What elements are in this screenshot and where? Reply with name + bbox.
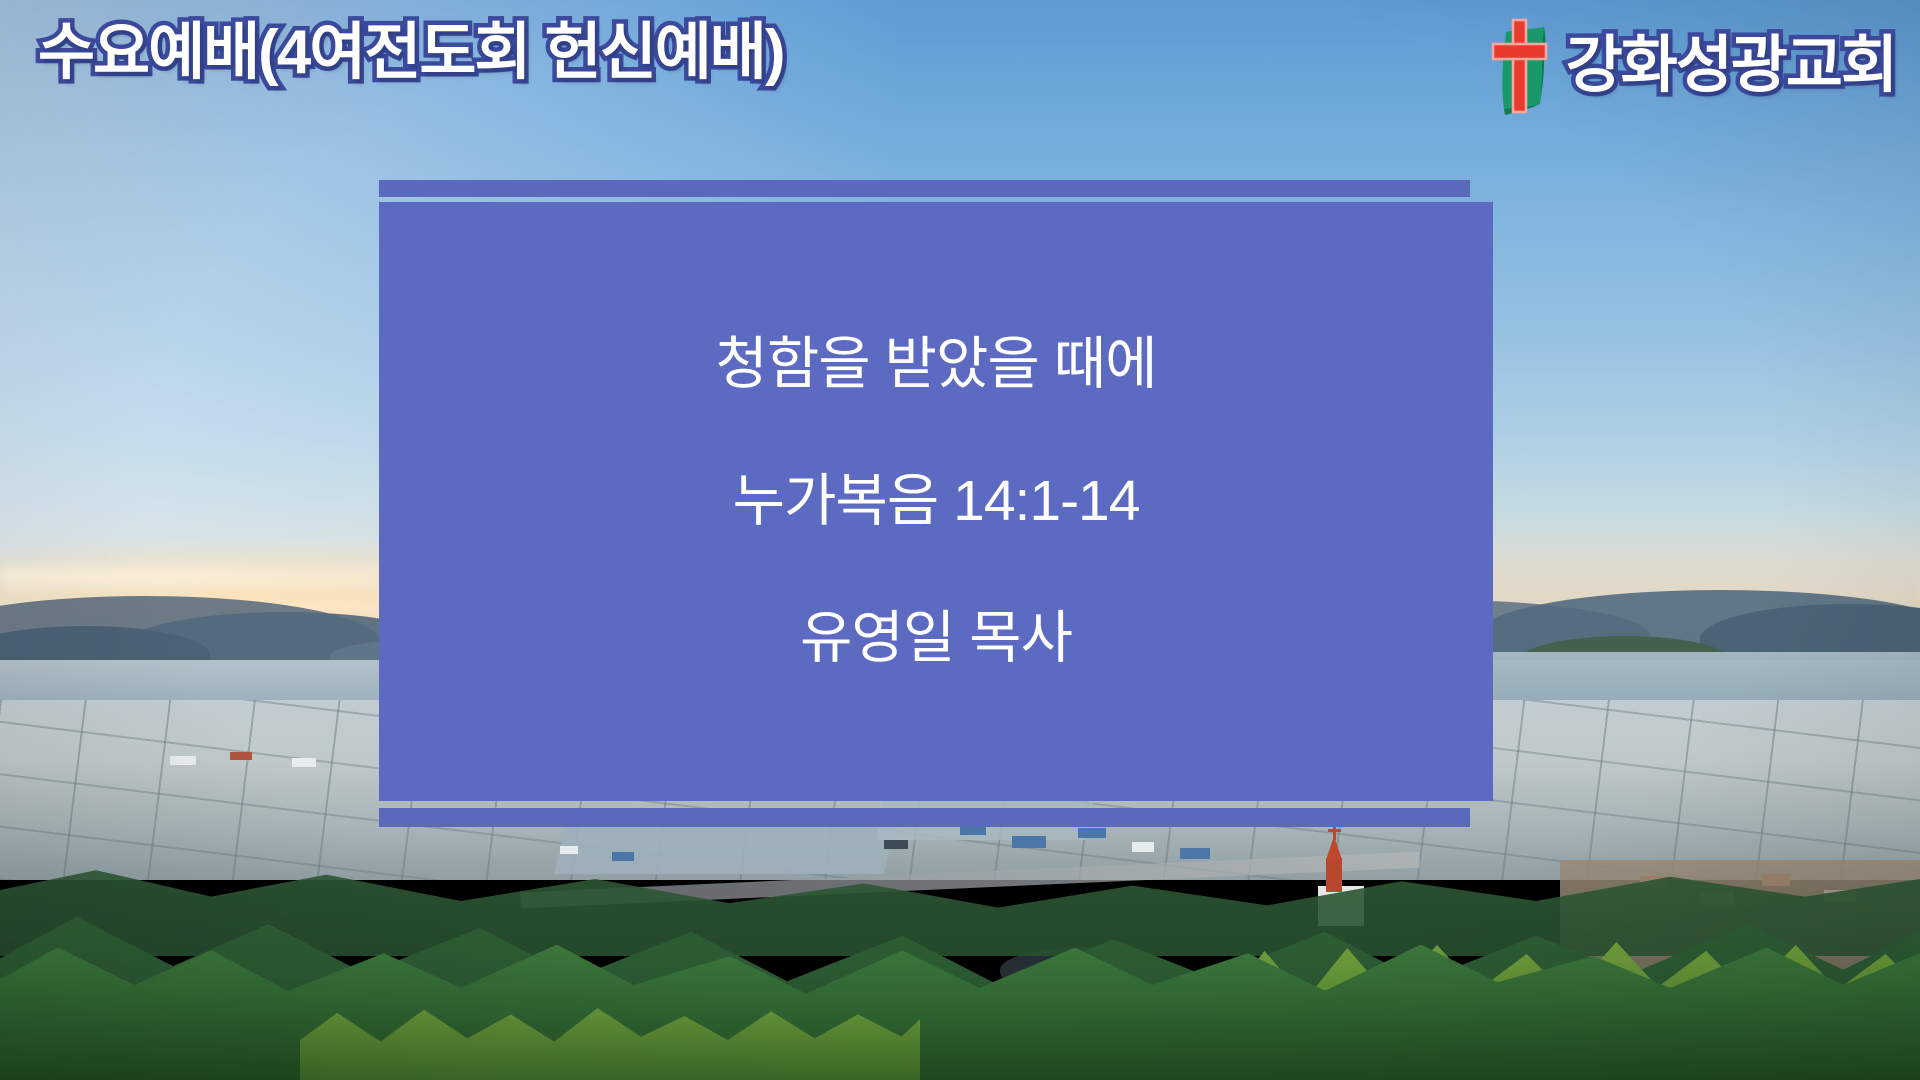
service-title: 수요예배(4여전도회 헌신예배) [38, 22, 783, 84]
church-brand: 강화성광교회 [1484, 16, 1896, 116]
church-name: 강화성광교회 [1566, 35, 1896, 97]
preacher-name: 유영일 목사 [800, 607, 1072, 670]
slide-stage: 수요예배(4여전도회 헌신예배) 강화성광교회 청함을 받았을 때에 누가복음 … [0, 0, 1920, 1080]
cross-and-scroll-icon [1484, 16, 1556, 116]
slide-header: 수요예배(4여전도회 헌신예배) 강화성광교회 [0, 0, 1920, 140]
panel-top-accent-bar [379, 180, 1470, 197]
scripture-reference: 누가복음 14:1-14 [733, 470, 1140, 533]
sermon-title: 청함을 받았을 때에 [715, 333, 1156, 396]
sermon-info-panel: 청함을 받았을 때에 누가복음 14:1-14 유영일 목사 [379, 202, 1493, 801]
panel-bottom-accent-bar [379, 808, 1470, 827]
